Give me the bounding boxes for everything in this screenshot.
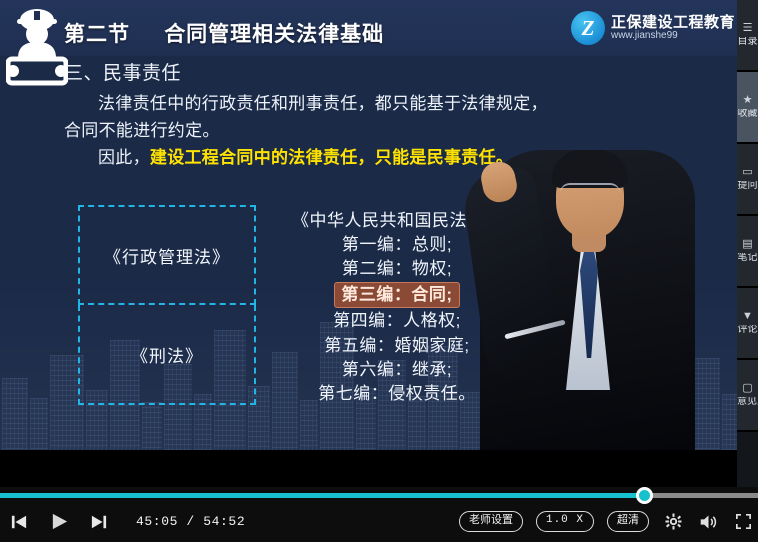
section-label: 第二节 [64,23,130,46]
sidebar-item-feedback[interactable]: ▢ 意见反馈 [737,360,758,432]
law-category-diagram: 《行政管理法》 《刑法》 [78,205,256,405]
list-icon: ☰ [743,23,753,34]
sidebar-item-label: 笔记 [737,253,758,264]
presenter-video-overlay [480,20,695,450]
video-stage[interactable]: 第二节 合同管理相关法律基础 Z 正保建设工程教育 www.jianshe99 … [0,0,737,487]
video-letterbox [0,450,737,487]
play-icon[interactable] [48,512,70,532]
progress-bar[interactable] [0,491,758,499]
time-display: 45:05 / 54:52 [136,514,245,529]
diagram-box-administrative: 《行政管理法》 [78,205,256,305]
playback-speed-button[interactable]: 1.0 X [536,511,594,531]
question-icon: ▭ [742,167,752,178]
section-title: 合同管理相关法律基础 [164,23,384,46]
sidebar-item-label: 提问 [737,181,758,192]
speaker-icon[interactable] [697,512,719,532]
skip-previous-icon[interactable] [8,512,30,532]
sidebar-item-questions[interactable]: ▭ 提问 [737,144,758,216]
diagram-box-criminal: 《刑法》 [78,305,256,405]
progress-fill [0,493,644,498]
video-player: 第二节 合同管理相关法律基础 Z 正保建设工程教育 www.jianshe99 … [0,0,758,542]
player-controls[interactable]: 45:05 / 54:52 老师设置 1.0 X 超清 [0,487,758,542]
quality-button[interactable]: 超清 [607,511,649,531]
gear-icon[interactable] [662,512,684,532]
sidebar-item-favorites[interactable]: ★ 收藏 [737,72,758,144]
code-line-selected: 第三编：合同; [334,282,459,308]
worker-reading-icon [6,4,68,86]
feedback-icon: ▢ [742,383,752,394]
paragraph-2-highlight: 建设工程合同中的法律责任，只能是民事责任。 [150,148,513,167]
paragraph-2-prefix: 因此， [98,148,150,167]
sidebar-item-label: 目录 [737,37,758,48]
sidebar-item-comments[interactable]: ▼ 评论 [737,288,758,360]
fullscreen-icon[interactable] [732,512,754,532]
sidebar-item-label: 意见反馈 [737,397,758,408]
star-icon: ★ [743,95,753,106]
sidebar-item-catalog[interactable]: ☰ 目录 [737,0,758,72]
right-sidebar[interactable]: ☰ 目录 ★ 收藏 ▭ 提问 ▤ 笔记 ▼ 评论 ▢ 意见反馈 [737,0,758,487]
note-icon: ▤ [742,239,752,250]
skip-next-icon[interactable] [88,512,110,532]
lecture-slide: 第二节 合同管理相关法律基础 Z 正保建设工程教育 www.jianshe99 … [0,0,737,450]
sidebar-item-label: 评论 [737,325,758,336]
sidebar-item-label: 收藏 [737,109,758,120]
page-title: 第二节 合同管理相关法律基础 [64,18,384,48]
teacher-settings-button[interactable]: 老师设置 [459,511,523,531]
sidebar-item-notes[interactable]: ▤ 笔记 [737,216,758,288]
comment-icon: ▼ [742,311,753,322]
